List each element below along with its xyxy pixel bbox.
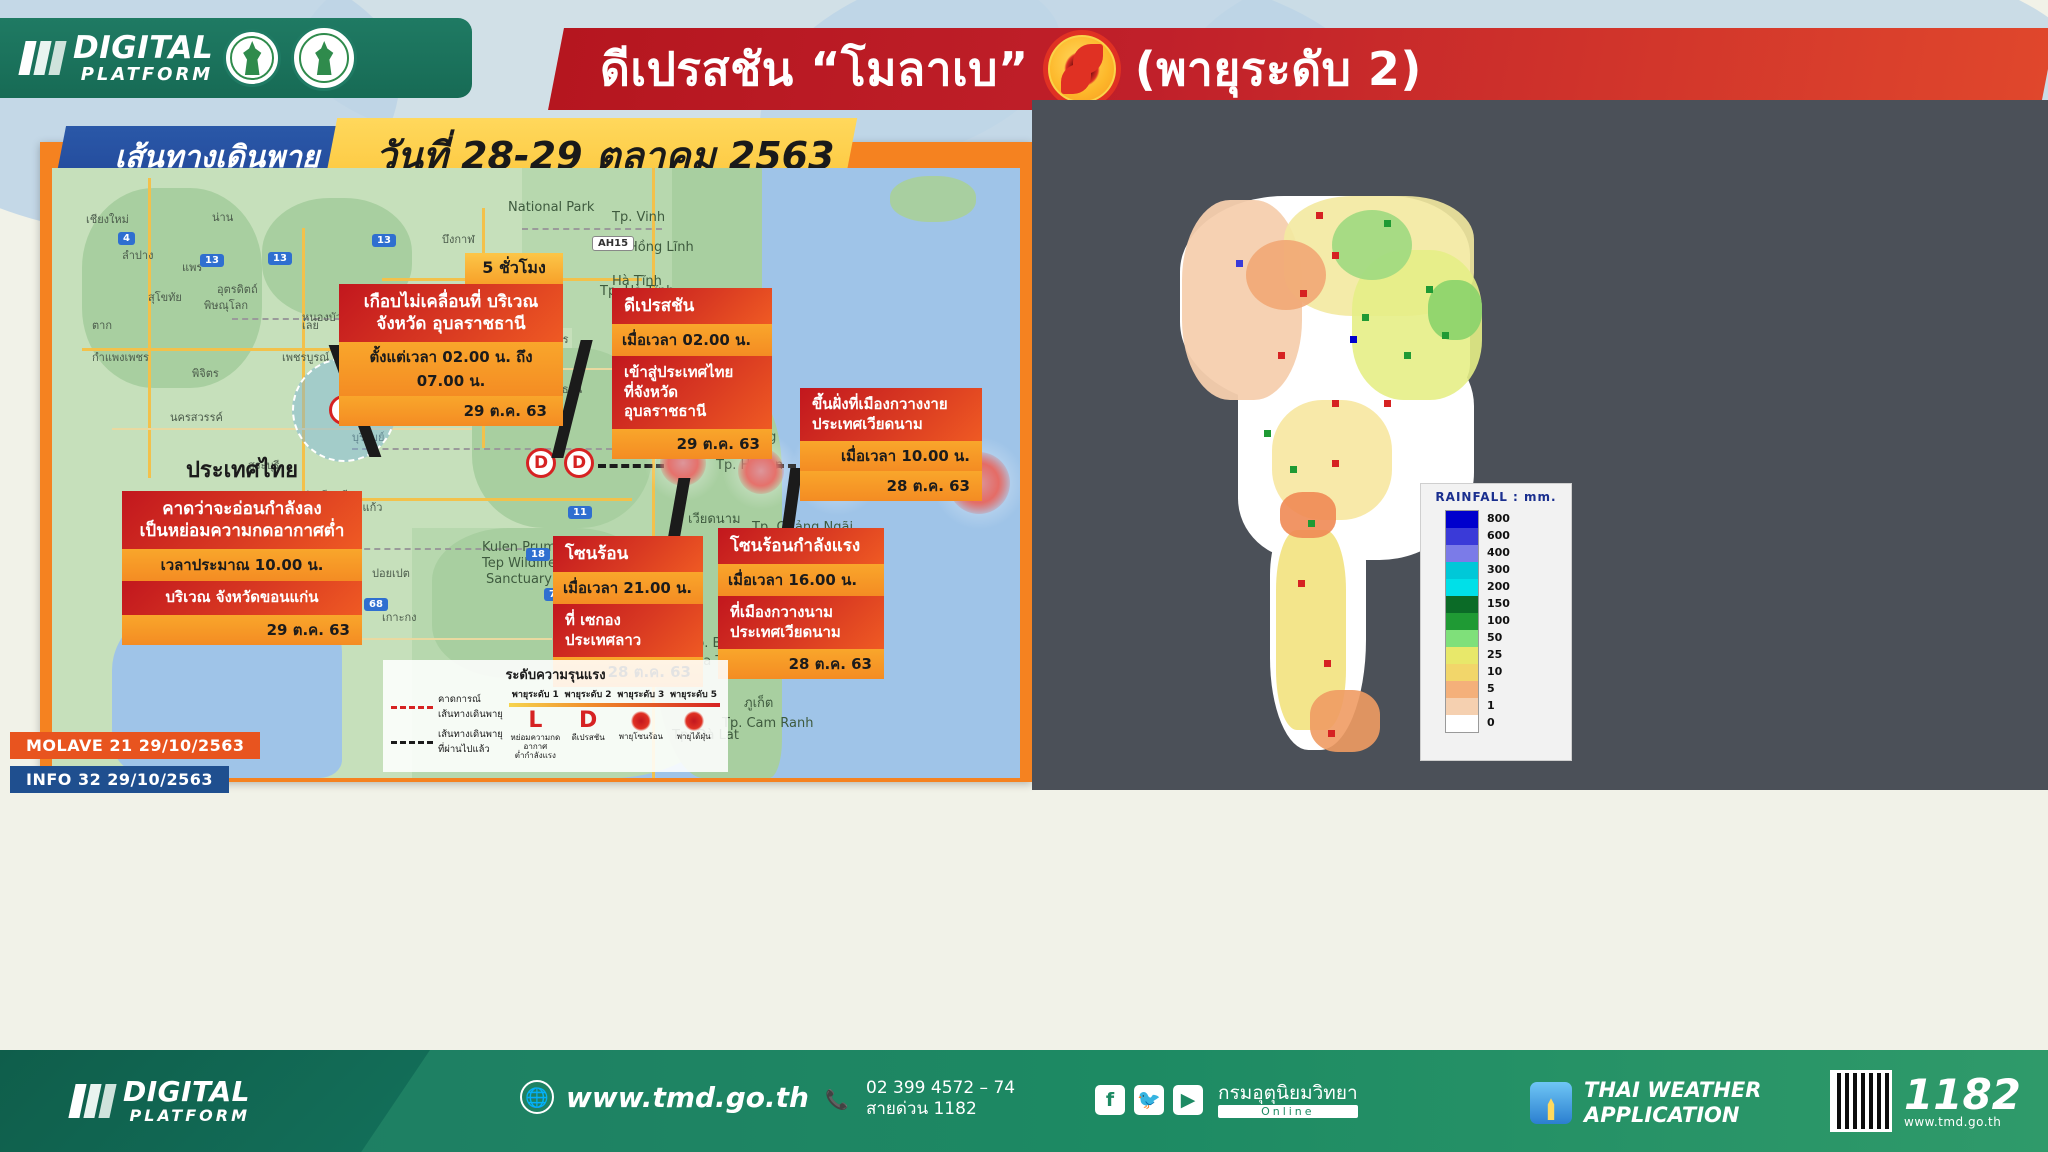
callout-sts-body: ที่เมืองกวางนาม ประเทศเวียดนาม	[718, 596, 884, 649]
rainfall-scale-label: 600	[1487, 527, 1510, 544]
ministry-seal-icon	[223, 29, 281, 87]
route-shield: 13	[372, 234, 396, 247]
footer-url: www.tmd.go.th	[566, 1081, 809, 1114]
youtube-icon[interactable]: ▶	[1173, 1085, 1203, 1115]
rainfall-colour-segment	[1446, 630, 1478, 647]
map-label: พิจิตร	[192, 364, 219, 382]
route-shield: 18	[526, 548, 550, 561]
rainfall-station-dot	[1236, 260, 1243, 267]
callout-ubon-line2: จังหวัด อุบลราชธานี	[351, 313, 551, 335]
rainfall-station-dot	[1384, 220, 1391, 227]
forecast-legend-line2: เส้นทางเดินพายุ	[438, 707, 503, 722]
past-dash-icon	[391, 741, 433, 744]
phone-icon: 📞	[820, 1082, 854, 1116]
callout-ts-body: ที่ เซกอง ประเทศลาว	[553, 604, 703, 657]
footer-brand-line2: PLATFORM	[123, 1108, 250, 1124]
callout-landfall[interactable]: ขึ้นฝั่งที่เมืองกวางงาย ประเทศเวียดนาม เ…	[800, 388, 982, 501]
marker-depression-2[interactable]: D	[564, 448, 594, 478]
rainfall-scale-label: 50	[1487, 629, 1510, 646]
footer-phone-line2: สายด่วน 1182	[866, 1099, 1015, 1120]
rainfall-scale-label: 5	[1487, 680, 1510, 697]
footer-app-line1: THAI WEATHER	[1584, 1078, 1761, 1103]
globe-icon: 🌐	[520, 1080, 554, 1114]
intensity-gradient-bar	[509, 703, 720, 707]
rainfall-station-dot	[1332, 400, 1339, 407]
callout-ubon-date: 29 ต.ค. 63	[339, 396, 563, 426]
rainfall-station-dot	[1332, 460, 1339, 467]
rainfall-station-dot	[1290, 466, 1297, 473]
intensity-level-label: พายุระดับ 2	[562, 687, 615, 701]
callout-thailand-line2: เป็นหย่อมความกดอากาศต่ำ	[134, 520, 350, 542]
footer-hotline[interactable]: 1182 www.tmd.go.th	[1830, 1070, 2021, 1132]
rainfall-colour-segment	[1446, 545, 1478, 562]
rainfall-colour-segment	[1446, 664, 1478, 681]
rainfall-scale-labels: 800600400300200150100502510510	[1487, 510, 1510, 733]
map-label-en: National Park	[508, 200, 594, 215]
twitter-icon[interactable]: 🐦	[1134, 1085, 1164, 1115]
weather-app-icon	[1530, 1082, 1572, 1124]
past-legend-line2: ที่ผ่านไปแล้ว	[438, 742, 503, 757]
rainfall-legend-title: RAINFALL : mm.	[1429, 490, 1563, 504]
route-shield: 11	[568, 506, 592, 519]
intensity-level-headers: พายุระดับ 1พายุระดับ 2พายุระดับ 3พายุระด…	[509, 687, 720, 701]
hotline-value: 1182	[1904, 1070, 2021, 1119]
callout-thailand-body: คาดว่าจะอ่อนกำลังลง เป็นหย่อมความกดอากาศ…	[122, 491, 362, 549]
intensity-desc: พายุได้ฝุ่น	[667, 732, 720, 741]
callout-ubon-time: ตั้งแต่เวลา 02.00 น. ถึง 07.00 น.	[339, 342, 563, 396]
callout-depression-time: เมื่อเวลา 02.00 น.	[612, 324, 772, 356]
rainfall-scale-label: 0	[1487, 714, 1510, 731]
forecast-legend-line1: คาดการณ์	[438, 692, 503, 707]
footer-bar: DIGITAL PLATFORM 🌐 www.tmd.go.th 📞 02 39…	[0, 1050, 2048, 1152]
footer-logo: DIGITAL PLATFORM	[0, 1050, 430, 1152]
callout-sts-title: โซนร้อนกำลังแรง	[718, 528, 884, 564]
storm-spiral-icon	[631, 711, 651, 731]
callout-sts-line3: ประเทศเวียดนาม	[730, 623, 872, 643]
rainfall-colour-segment	[1446, 647, 1478, 664]
intensity-level-symbols: Lหย่อมความกดอากาศต่ำกำลังแรงDดีเปรสชันพา…	[509, 710, 720, 761]
route-shield: 13	[268, 252, 292, 265]
brand-name-line1: DIGITAL	[73, 30, 213, 66]
callout-landfall-line1: ขึ้นฝั่งที่เมืองกวางงาย	[812, 395, 970, 415]
callout-thailand-weaken[interactable]: ประเทศไทย คาดว่าจะอ่อนกำลังลง เป็นหย่อมค…	[122, 452, 362, 645]
map-label-en: เวียดนาม	[688, 508, 741, 529]
callout-landfall-body: ขึ้นฝั่งที่เมืองกวางงาย ประเทศเวียดนาม	[800, 388, 982, 441]
route-shield: AH15	[592, 236, 634, 251]
rainfall-station-dot	[1362, 314, 1369, 321]
callout-ubon-body: เกือบไม่เคลื่อนที่ บริเวณ จังหวัด อุบลรา…	[339, 284, 563, 342]
rainfall-colour-segment	[1446, 579, 1478, 596]
facebook-icon[interactable]: f	[1095, 1085, 1125, 1115]
callout-ubon[interactable]: 5 ชั่วโมง เกือบไม่เคลื่อนที่ บริเวณ จังห…	[339, 253, 563, 426]
page-title: ดีเปรสชัน “โมลาเบ”	[600, 33, 1029, 106]
intensity-level-label: พายุระดับ 3	[615, 687, 668, 701]
map-label: ปอยเปต	[372, 564, 410, 582]
intensity-level-label: พายุระดับ 5	[667, 687, 720, 701]
callout-thailand-line3: บริเวณ จังหวัดขอนแก่น	[122, 581, 362, 615]
rainfall-station-dot	[1350, 336, 1357, 343]
intensity-glyph: D	[562, 710, 615, 732]
intensity-legend-title: ระดับความรุนแรง	[391, 664, 720, 685]
rainfall-station-dot	[1332, 252, 1339, 259]
cyclone-icon	[1043, 30, 1121, 108]
callout-landfall-date: 28 ต.ค. 63	[800, 471, 982, 501]
map-label: เกาะกง	[382, 608, 417, 626]
intensity-legend: ระดับความรุนแรง คาดการณ์ เส้นทางเดินพายุ…	[383, 660, 728, 772]
rainfall-scale-label: 300	[1487, 561, 1510, 578]
route-shield: 68	[364, 598, 388, 611]
callout-sts-date: 28 ต.ค. 63	[718, 649, 884, 679]
callout-thailand-date: 29 ต.ค. 63	[122, 615, 362, 645]
callout-depression-title: ดีเปรสชัน	[612, 288, 772, 324]
callout-thailand-title: ประเทศไทย	[122, 452, 362, 491]
rainfall-colour-bar	[1445, 510, 1479, 733]
brand-name-line2: PLATFORM	[73, 66, 213, 84]
rainfall-colour-segment	[1446, 715, 1478, 732]
rainfall-station-dot	[1426, 286, 1433, 293]
map-label-en: Hồng Lĩnh	[628, 240, 694, 255]
rainfall-scale-label: 800	[1487, 510, 1510, 527]
rainfall-scale-label: 100	[1487, 612, 1510, 629]
tag-molave: MOLAVE 21 29/10/2563	[10, 732, 260, 759]
map-label: สุโขทัย	[148, 288, 182, 306]
route-shield: 4	[118, 232, 135, 245]
rainfall-station-dot	[1324, 660, 1331, 667]
footer-hotline-number: 1182 www.tmd.go.th	[1904, 1074, 2021, 1128]
rainfall-station-dot	[1308, 520, 1315, 527]
map-label: ตาก	[92, 316, 112, 334]
footer-phone-text: 02 399 4572 – 74 สายด่วน 1182	[866, 1078, 1015, 1121]
map-label: เชียงใหม่	[86, 210, 129, 228]
callout-ts-time: เมื่อเวลา 21.00 น.	[553, 572, 703, 604]
storm-spiral-icon	[684, 711, 704, 731]
callout-sts-line2: ที่เมืองกวางนาม	[730, 603, 872, 623]
footer-website[interactable]: 🌐 www.tmd.go.th	[520, 1080, 809, 1114]
callout-thailand-line1: คาดว่าจะอ่อนกำลังลง	[134, 498, 350, 520]
rainfall-station-dot	[1300, 290, 1307, 297]
rainfall-scale-label: 25	[1487, 646, 1510, 663]
rainfall-legend: RAINFALL : mm. 8006004003002001501005025…	[1420, 483, 1572, 761]
rainfall-scale-label: 200	[1487, 578, 1510, 595]
callout-depression-line3: ที่จังหวัด อุบลราชธานี	[624, 383, 760, 422]
footer-social-line1: กรมอุตุนิยมวิทยา	[1218, 1082, 1358, 1105]
callout-depression-body: เข้าสู่ประเทศไทย ที่จังหวัด อุบลราชธานี	[612, 356, 772, 429]
rainfall-station-dot	[1328, 730, 1335, 737]
footer-app[interactable]: THAI WEATHER APPLICATION	[1530, 1078, 1761, 1128]
rainfall-scale-label: 150	[1487, 595, 1510, 612]
map-label: นครสวรรค์	[170, 408, 223, 426]
rainfall-colour-segment	[1446, 596, 1478, 613]
intensity-level-cell: Dดีเปรสชัน	[562, 710, 615, 742]
rainfall-scale-label: 10	[1487, 663, 1510, 680]
intensity-glyph: L	[509, 710, 562, 732]
qr-code-icon	[1830, 1070, 1892, 1132]
tmd-seal-icon	[291, 25, 357, 91]
map-label: บึงกาฬ	[442, 230, 475, 248]
callout-severe-storm[interactable]: โซนร้อนกำลังแรง เมื่อเวลา 16.00 น. ที่เม…	[718, 528, 884, 679]
footer-phone[interactable]: 📞 02 399 4572 – 74 สายด่วน 1182	[820, 1078, 1015, 1121]
callout-ts-title: โซนร้อน	[553, 536, 703, 572]
digital-platform-wordmark: DIGITAL PLATFORM	[73, 33, 213, 84]
rainfall-colour-segment	[1446, 511, 1478, 528]
rainfall-station-dot	[1264, 430, 1271, 437]
rainfall-station-dot	[1442, 332, 1449, 339]
intensity-level-cell: Lหย่อมความกดอากาศต่ำกำลังแรง	[509, 710, 562, 761]
rainfall-colour-segment	[1446, 613, 1478, 630]
map-label-en: Tp. Vinh	[612, 210, 665, 225]
route-shield: 13	[200, 254, 224, 267]
rainfall-colour-segment	[1446, 681, 1478, 698]
map-label: ลำปาง	[122, 246, 153, 264]
footer-social[interactable]: f 🐦 ▶ กรมอุตุนิยมวิทยา Online	[1095, 1082, 1358, 1118]
intensity-desc: พายุโซนร้อน	[615, 732, 668, 741]
callout-depression-line2: เข้าสู่ประเทศไทย	[624, 363, 760, 383]
rainfall-station-dot	[1278, 352, 1285, 359]
rainfall-station-dot	[1298, 580, 1305, 587]
map-label-en: Sanctuary	[486, 572, 552, 587]
callout-thailand-time: เวลาประมาณ 10.00 น.	[122, 549, 362, 581]
rainfall-station-dot	[1404, 352, 1411, 359]
past-legend-line1: เส้นทางเดินพายุ	[438, 727, 503, 742]
map-label: พิษณุโลก	[204, 296, 248, 314]
footer-phone-line1: 02 399 4572 – 74	[866, 1078, 1015, 1099]
footer-wordmark: DIGITAL PLATFORM	[123, 1078, 250, 1124]
rainfall-colour-segment	[1446, 698, 1478, 715]
map-label-en: ภูเก็ต	[744, 692, 773, 713]
title-banner: ดีเปรสชัน “โมลาเบ” (พายุระดับ 2)	[600, 28, 2048, 110]
rainfall-station-dot	[1384, 400, 1391, 407]
callout-depression[interactable]: ดีเปรสชัน เมื่อเวลา 02.00 น. เข้าสู่ประเ…	[612, 288, 772, 459]
intensity-level-cell: พายุได้ฝุ่น	[667, 710, 720, 741]
footer-brand-line1: DIGITAL	[123, 1075, 250, 1108]
callout-landfall-time: เมื่อเวลา 10.00 น.	[800, 441, 982, 471]
intensity-desc: หย่อมความกดอากาศต่ำกำลังแรง	[509, 733, 562, 761]
digital-platform-stripes-icon	[18, 41, 66, 75]
forecast-dash-icon	[391, 706, 433, 709]
map-label: น่าน	[212, 208, 233, 226]
callout-sts-time: เมื่อเวลา 16.00 น.	[718, 564, 884, 596]
rainfall-colour-segment	[1446, 528, 1478, 545]
track-style-legend: คาดการณ์ เส้นทางเดินพายุ เส้นทางเดินพายุ…	[391, 687, 503, 761]
footer-social-line2: Online	[1218, 1105, 1358, 1118]
rainfall-station-dot	[1316, 212, 1323, 219]
callout-ts-line2: ที่ เซกอง	[565, 611, 691, 631]
callout-landfall-line2: ประเทศเวียดนาม	[812, 415, 970, 435]
digital-platform-logo-bar: DIGITAL PLATFORM	[0, 18, 472, 98]
rainfall-colour-segment	[1446, 562, 1478, 579]
callout-ts-line3: ประเทศลาว	[565, 631, 691, 651]
intensity-desc: ดีเปรสชัน	[562, 733, 615, 742]
callout-depression-date: 29 ต.ค. 63	[612, 429, 772, 459]
rainfall-scale-label: 1	[1487, 697, 1510, 714]
map-label: กำแพงเพชร	[92, 348, 149, 366]
footer-stripes-icon	[68, 1084, 116, 1118]
intensity-level-label: พายุระดับ 1	[509, 687, 562, 701]
intensity-level-cell: พายุโซนร้อน	[615, 710, 668, 741]
tag-info: INFO 32 29/10/2563	[10, 766, 229, 793]
footer-app-line2: APPLICATION	[1584, 1103, 1761, 1128]
callout-ubon-line1: เกือบไม่เคลื่อนที่ บริเวณ	[351, 291, 551, 313]
callout-ubon-duration: 5 ชั่วโมง	[465, 253, 563, 284]
rainfall-scale-label: 400	[1487, 544, 1510, 561]
page-title-suffix: (พายุระดับ 2)	[1135, 33, 1422, 106]
